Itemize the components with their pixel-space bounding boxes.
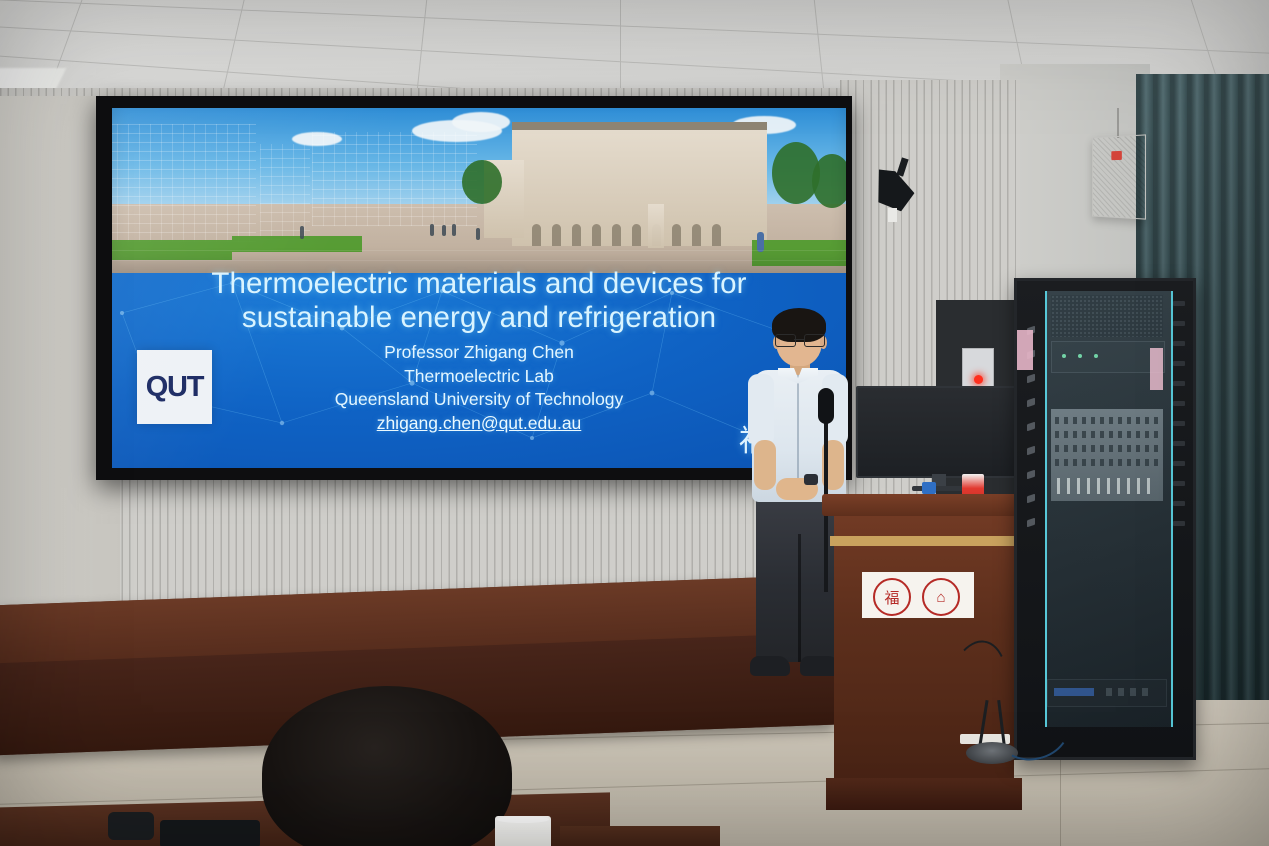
presenter-forearm-left	[754, 440, 776, 490]
foreground-object	[108, 812, 154, 840]
foreground-desk-right	[560, 826, 720, 846]
slide-campus-photo	[112, 108, 846, 273]
rack-label-pink-2	[1150, 348, 1163, 390]
rack-label-pink	[1017, 330, 1033, 370]
slide-affiliation: Queensland University of Technology	[112, 388, 846, 412]
bracket-tag	[888, 208, 897, 222]
slide-title: Thermoelectric materials and devices for…	[112, 267, 846, 335]
slide-content-area: Thermoelectric materials and devices for…	[112, 273, 846, 468]
presenter-wristwatch	[804, 474, 818, 485]
alarm-indicator-light	[974, 375, 983, 384]
monitor-foot	[912, 486, 968, 491]
podium-top	[822, 494, 1026, 516]
glasses-icon	[775, 334, 823, 345]
monitor-screen	[856, 386, 1030, 478]
podium-gold-band	[830, 536, 1018, 546]
podium-plaque: 福 ⌂	[862, 572, 974, 618]
slide-email-link[interactable]: zhigang.chen@qut.edu.au	[377, 412, 582, 436]
lecture-hall-scene: Thermoelectric materials and devices for…	[0, 0, 1269, 846]
presenter-shoe-left	[750, 656, 790, 676]
blue-desk-object	[922, 482, 936, 494]
slide-subtitle-block: Professor Zhigang Chen Thermoelectric La…	[112, 341, 846, 435]
presenter-sleeve-left	[748, 374, 774, 446]
slide-presenter: Professor Zhigang Chen	[112, 341, 846, 365]
led-video-wall[interactable]: Thermoelectric materials and devices for…	[112, 108, 846, 468]
paper-cup	[495, 816, 551, 846]
speaker-brand-logo	[1111, 151, 1122, 160]
podium-base	[826, 778, 1022, 810]
microphone-icon	[818, 388, 834, 424]
speaker-hanger-wire	[1117, 108, 1119, 138]
qut-logo-text: QUT	[146, 371, 204, 404]
foreground-phone	[160, 820, 260, 846]
slide-title-line-2: sustainable energy and refrigeration	[112, 301, 846, 335]
av-equipment-rack[interactable]	[1014, 278, 1196, 760]
qut-logo: QUT	[137, 350, 212, 424]
wall-speaker	[1092, 134, 1146, 219]
slide-title-line-1: Thermoelectric materials and devices for	[112, 267, 846, 301]
slide-lab: Thermoelectric Lab	[112, 365, 846, 389]
university-seal-right: ⌂	[922, 578, 960, 616]
university-seal-left: 福	[873, 578, 911, 616]
podium-monitor[interactable]	[856, 386, 1026, 490]
